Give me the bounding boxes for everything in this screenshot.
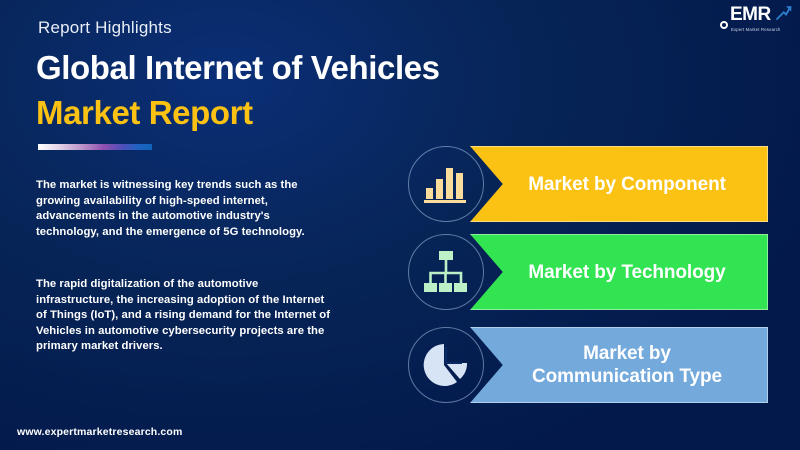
segment-label-component: Market by Component [502, 173, 736, 196]
logo-tagline: Expert Market Research [731, 27, 781, 32]
segment-label-technology: Market by Technology [502, 261, 735, 284]
segment-label-communication-type: Market by Communication Type [506, 342, 732, 388]
growth-arrow-icon [774, 4, 792, 22]
segment-banner-component[interactable]: Market by Component [470, 146, 768, 222]
bar-chart-icon [421, 159, 471, 209]
highlight-paragraph-1: The market is witnessing key trends such… [36, 178, 336, 240]
segment-banner-technology[interactable]: Market by Technology [470, 234, 768, 310]
footer-website-url: www.expertmarketresearch.com [17, 426, 182, 438]
logo-wordmark: EMR [730, 5, 771, 24]
slide-canvas: EMR Expert Market Research Report Highli… [0, 0, 800, 450]
page-title-line1: Global Internet of Vehicles [36, 48, 440, 88]
title-divider [38, 144, 152, 150]
segment-card-technology[interactable]: Market by Technology [408, 234, 768, 310]
hierarchy-network-icon [421, 247, 471, 297]
eyebrow-label: Report Highlights [38, 18, 172, 38]
highlight-paragraph-2: The rapid digitalization of the automoti… [36, 277, 336, 355]
segment-card-component[interactable]: Market by Component [408, 146, 768, 222]
segment-banner-communication-type[interactable]: Market by Communication Type [470, 327, 768, 403]
emr-logo: EMR Expert Market Research [718, 4, 794, 34]
pie-chart-icon [421, 340, 471, 390]
page-title-line2: Market Report [36, 93, 253, 133]
segment-card-communication-type[interactable]: Market by Communication Type [408, 327, 768, 403]
logo-dot-icon [720, 21, 728, 29]
